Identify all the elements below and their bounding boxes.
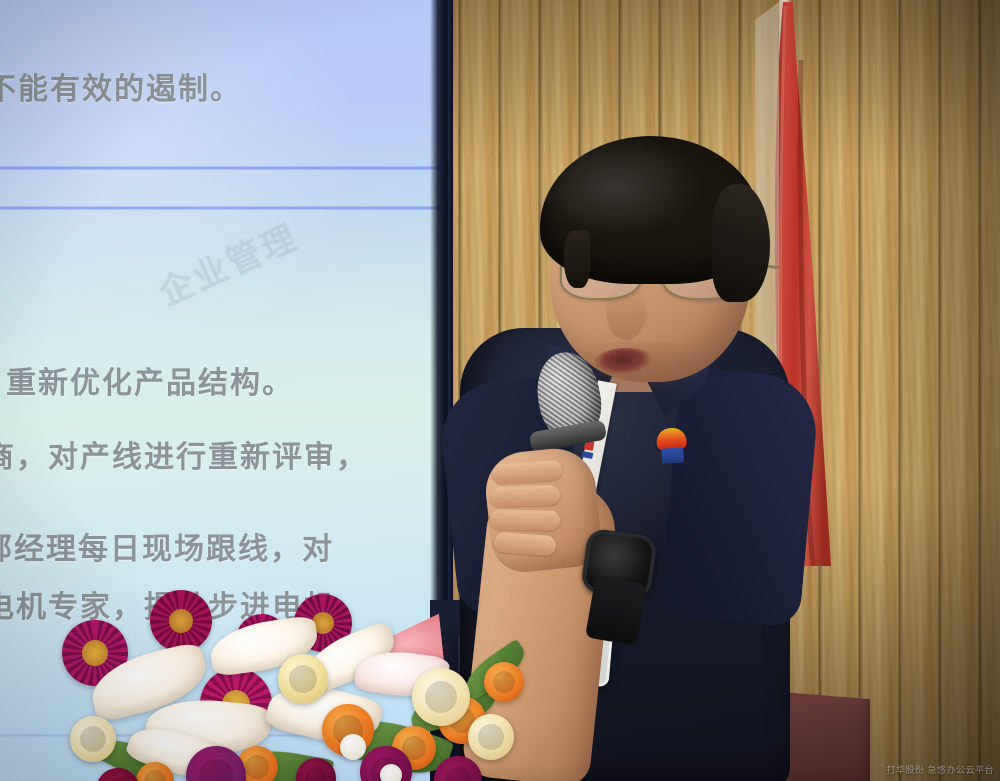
finger-middle <box>490 485 561 507</box>
slide-line-3: 商，对产线进行重新评审， <box>0 432 368 476</box>
white-bud <box>340 734 366 760</box>
lanyard-logo-blue <box>581 450 593 458</box>
lapel-pin-bottom <box>661 447 684 463</box>
sideburn <box>564 230 590 288</box>
watch-band <box>585 576 647 646</box>
finger-ring <box>490 509 560 530</box>
flower-center <box>82 640 108 666</box>
flower-center <box>169 609 193 633</box>
cream-rose <box>412 668 470 726</box>
corner-watermark: 打华股份 急悠办公云平台 <box>886 763 994 776</box>
cream-rose <box>278 654 328 704</box>
right-shoulder <box>659 366 820 627</box>
finger-little <box>493 532 556 556</box>
slide-line-4: 部经理每日现场跟线，对 <box>0 524 334 568</box>
orange-rose <box>484 662 524 702</box>
slide-line-2: 重新优化产品结构。 <box>6 358 294 402</box>
flower-arrangement <box>40 596 560 781</box>
hair-side <box>712 184 770 302</box>
screenshot-stage: 企业管理 不能有效的遏制。 重新优化产品结构。 商，对产线进行重新评审， 部经理… <box>0 0 1000 781</box>
slide-line-1: 不能有效的遏制。 <box>0 64 242 108</box>
lapel-pin-icon <box>654 427 691 467</box>
wall-right-shadow <box>870 0 1000 781</box>
cream-rose <box>70 716 116 762</box>
white-bud <box>380 764 402 781</box>
cream-rose <box>468 714 514 760</box>
